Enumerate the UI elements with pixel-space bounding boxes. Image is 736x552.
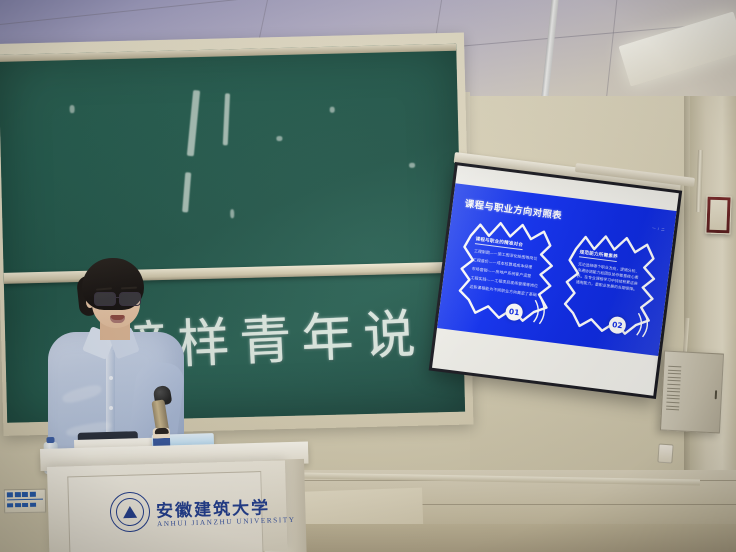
wall-socket — [657, 443, 673, 463]
blackboard-top-rail — [0, 44, 456, 62]
left-wall-switch-panel — [4, 489, 46, 514]
presentation-slide: 课程与职业方向对照表 一 / 二 课程与职业的精准对台 工程制图——施工图深化绘… — [437, 183, 677, 356]
ceiling-tile-line — [0, 0, 732, 25]
ceiling-light — [618, 11, 736, 86]
chalk-mark — [330, 107, 335, 113]
chalk-mark — [70, 105, 75, 113]
framed-notice — [705, 196, 731, 235]
switch-panel-row — [5, 490, 45, 498]
glasses-icon — [94, 292, 142, 304]
projection-screen-surface: 课程与职业方向对照表 一 / 二 课程与职业的精准对台 工程制图——施工图深化绘… — [432, 165, 679, 395]
projection-screen-frame: 课程与职业方向对照表 一 / 二 课程与职业的精准对台 工程制图——施工图深化绘… — [429, 162, 683, 399]
chalk-mark — [409, 163, 415, 168]
cabinet-latch[interactable] — [714, 390, 717, 399]
chalk-mark — [182, 172, 191, 212]
chalk-mark — [230, 209, 234, 218]
slide-page-label: 一 / 二 — [652, 226, 666, 233]
speaker-mouth — [110, 315, 125, 323]
classroom-photo: 榜样青年说 课程与职业方向对照表 一 / 二 课程与职业的精准对台 工程制图——… — [0, 0, 736, 552]
floor — [296, 524, 736, 552]
chalk-mark — [276, 136, 282, 141]
slide-swoosh-icon — [634, 311, 655, 339]
switch-panel-row — [5, 501, 45, 508]
chalk-mark — [223, 93, 230, 145]
bottle-cap — [46, 437, 54, 443]
cabinet-vent-icon — [666, 366, 681, 415]
chalk-mark — [187, 90, 200, 156]
wall-network-cabinet — [660, 350, 724, 433]
slide-swoosh-icon — [530, 298, 551, 326]
